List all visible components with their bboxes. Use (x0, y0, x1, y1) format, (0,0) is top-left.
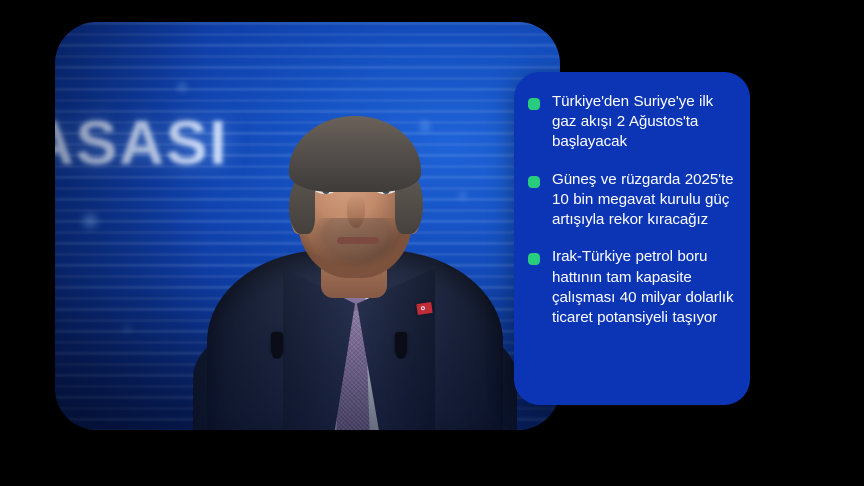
photo-card: ASASI (55, 22, 560, 430)
list-item: Irak-Türkiye petrol boru hattının tam ka… (528, 247, 734, 328)
bullet-text: Irak-Türkiye petrol boru hattının tam ka… (552, 247, 734, 328)
headline-bullet-panel: Türkiye'den Suriye'ye ilk gaz akışı 2 Ağ… (514, 72, 750, 405)
bullet-text: Türkiye'den Suriye'ye ilk gaz akışı 2 Ağ… (552, 92, 734, 153)
list-item: Güneş ve rüzgarda 2025'te 10 bin megavat… (528, 170, 734, 231)
slide-canvas: ASASI (0, 0, 864, 486)
bullet-dot-icon (528, 253, 540, 265)
list-item: Türkiye'den Suriye'ye ilk gaz akışı 2 Ağ… (528, 92, 734, 153)
card-vignette (55, 22, 560, 430)
bullet-dot-icon (528, 176, 540, 188)
bullet-dot-icon (528, 98, 540, 110)
bullet-text: Güneş ve rüzgarda 2025'te 10 bin megavat… (552, 170, 734, 231)
